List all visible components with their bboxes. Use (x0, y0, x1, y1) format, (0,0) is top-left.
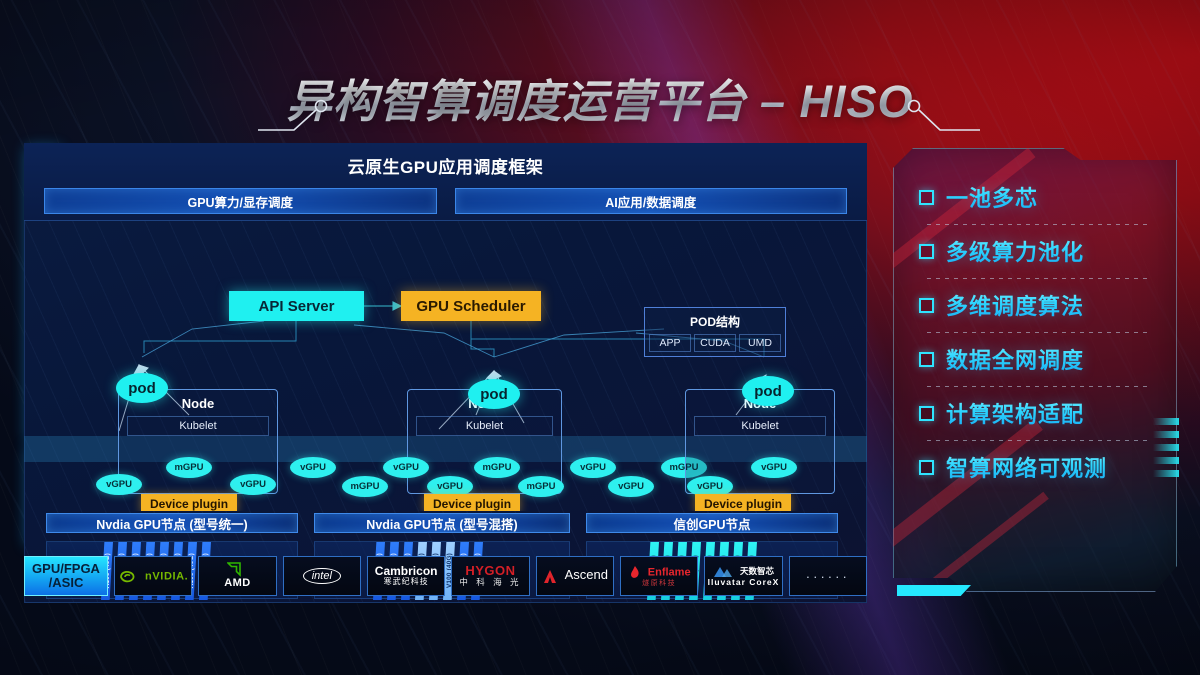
checkbox-icon (919, 190, 934, 205)
pill-ai-app-data[interactable]: AI应用/数据调度 (455, 188, 848, 214)
feature-panel: 一池多芯多级算力池化多维调度算法数据全网调度计算架构适配智算网络可观测 (893, 148, 1177, 592)
amd-arrow-icon (227, 562, 244, 577)
vendor-name: intel (303, 568, 341, 584)
kubelet-bar: Kubelet (416, 416, 553, 436)
page-title: 异构智算调度运营平台 – HISO (286, 65, 913, 130)
mgpu-chip-free-2[interactable]: mGPU (342, 476, 388, 497)
title-deco-left (258, 96, 338, 136)
pod-node-1[interactable]: pod (116, 373, 168, 403)
vendor-name: HYGON (465, 563, 515, 578)
vendor-name-cn: 中 科 海 光 (459, 578, 521, 587)
band-pill-row: GPU算力/显存调度 AI应用/数据调度 (24, 178, 867, 214)
checkbox-icon (919, 352, 934, 367)
scheduling-framework-band: API Server GPU Scheduler POD结构 APP CUDA … (24, 221, 867, 511)
feature-item[interactable]: 数据全网调度 (919, 332, 1159, 386)
feature-item[interactable]: 计算架构适配 (919, 386, 1159, 440)
feature-item[interactable]: 智算网络可观测 (919, 440, 1159, 494)
vgpu-chip-free-3[interactable]: vGPU (570, 457, 616, 478)
feature-item[interactable]: 一池多芯 (919, 170, 1159, 224)
vendor-name: ······ (806, 569, 850, 584)
band-title: 云原生GPU应用调度框架 (24, 143, 867, 178)
pod-cell-app: APP (649, 334, 691, 352)
pod-structure-cells: APP CUDA UMD (649, 334, 781, 352)
api-server-box[interactable]: API Server (229, 291, 364, 321)
nvidia-eye-icon (118, 570, 138, 583)
device-plugin-1[interactable]: Device plugin (141, 494, 237, 511)
gpu-scheduler-box[interactable]: GPU Scheduler (401, 291, 541, 321)
vendor-logo-intel[interactable]: intel (283, 556, 361, 596)
vendor-logo-more[interactable]: ······ (789, 556, 867, 596)
kubelet-bar: Kubelet (694, 416, 826, 436)
title-deco-right (900, 96, 980, 136)
vgpu-chip-free-4[interactable]: vGPU (608, 476, 654, 497)
vendor-logo-ascend[interactable]: Ascend (536, 556, 614, 596)
slide-stage: 异构智算调度运营平台 – HISO 云原生GPU资源调度框架 GPU资源 (0, 0, 1200, 675)
pod-structure-box: POD结构 APP CUDA UMD (644, 307, 786, 357)
gpu-node-bar-1[interactable]: Nvdia GPU节点 (型号统一) (46, 513, 298, 533)
pill-gpu-compute-memory[interactable]: GPU算力/显存调度 (44, 188, 437, 214)
vendor-name-en: Iluvatar CoreX (708, 578, 780, 588)
gpu-node-bar-3[interactable]: 信创GPU节点 (586, 513, 838, 533)
vendor-logo-iluvatar[interactable]: 天数智芯 Iluvatar CoreX (704, 556, 782, 596)
vendor-name: nVIDIA. (145, 570, 188, 582)
pod-cell-cuda: CUDA (694, 334, 736, 352)
vendor-logo-nvidia[interactable]: nVIDIA. (114, 556, 192, 596)
vendor-name: 天数智芯 (740, 566, 774, 576)
iluvatar-mountain-icon (713, 564, 733, 578)
mgpu-chip-1b[interactable]: mGPU (166, 457, 212, 478)
vendor-logo-hygon[interactable]: HYGON 中 科 海 光 (451, 556, 529, 596)
feature-panel-accent-bar (897, 585, 971, 596)
feature-item[interactable]: 多维调度算法 (919, 278, 1159, 332)
feature-list: 一池多芯多级算力池化多维调度算法数据全网调度计算架构适配智算网络可观测 (919, 170, 1159, 494)
vendor-logo-row: GPU/FPGA /ASIC nVIDIA. AMD intel (24, 556, 867, 596)
enflame-flame-icon (628, 565, 641, 580)
device-plugin-3[interactable]: Device plugin (695, 494, 791, 511)
vendor-name: Cambricon (375, 564, 438, 578)
feature-label: 一池多芯 (946, 181, 1038, 213)
gpu-node-bar-2[interactable]: Nvdia GPU节点 (型号混搭) (314, 513, 570, 533)
vgpu-chip-1c[interactable]: vGPU (230, 474, 276, 495)
architecture-diagram: 云原生GPU应用调度框架 GPU算力/显存调度 AI应用/数据调度 API Se… (24, 143, 867, 603)
pod-structure-title: POD结构 (649, 311, 781, 334)
vendor-logo-amd[interactable]: AMD (198, 556, 276, 596)
vgpu-chip-3c[interactable]: vGPU (751, 457, 797, 478)
checkbox-icon (919, 406, 934, 421)
checkbox-icon (919, 298, 934, 313)
mgpu-chip-2d[interactable]: mGPU (518, 476, 564, 497)
vgpu-chip-2a[interactable]: vGPU (383, 457, 429, 478)
vendor-name-cn: 燧原科技 (628, 580, 691, 588)
device-plugin-2[interactable]: Device plugin (424, 494, 520, 511)
vgpu-chip-free-1[interactable]: vGPU (290, 457, 336, 478)
feature-label: 数据全网调度 (946, 343, 1084, 375)
feature-item[interactable]: 多级算力池化 (919, 224, 1159, 278)
vendor-name-cn: 寒武纪科技 (375, 578, 438, 587)
kubelet-bar: Kubelet (127, 416, 269, 436)
vendor-name: AMD (224, 577, 251, 589)
checkbox-icon (919, 244, 934, 259)
pod-node-2[interactable]: pod (468, 379, 520, 409)
mgpu-chip-2b[interactable]: mGPU (474, 457, 520, 478)
vendor-name: Ascend (565, 567, 608, 582)
feature-label: 智算网络可观测 (946, 451, 1107, 483)
vendor-logo-cambricon[interactable]: Cambricon 寒武纪科技 (367, 556, 445, 596)
feature-label: 计算架构适配 (946, 397, 1084, 429)
vendor-logo-enflame[interactable]: Enflame 燧原科技 (620, 556, 698, 596)
feature-label: 多级算力池化 (946, 235, 1084, 267)
pod-node-3[interactable]: pod (742, 376, 794, 406)
checkbox-icon (919, 460, 934, 475)
vendor-category-label: GPU/FPGA /ASIC (24, 556, 108, 596)
vendor-name: Enflame (648, 566, 691, 578)
slide-header: 异构智算调度运营平台 – HISO (0, 58, 1200, 136)
ascend-mark-icon (542, 569, 558, 584)
feature-label: 多维调度算法 (946, 289, 1084, 321)
cloud-native-framework-band: 云原生GPU应用调度框架 GPU算力/显存调度 AI应用/数据调度 (24, 143, 867, 221)
category-line-2: /ASIC (49, 575, 84, 590)
vgpu-chip-1a[interactable]: vGPU (96, 474, 142, 495)
pod-cell-umd: UMD (739, 334, 781, 352)
